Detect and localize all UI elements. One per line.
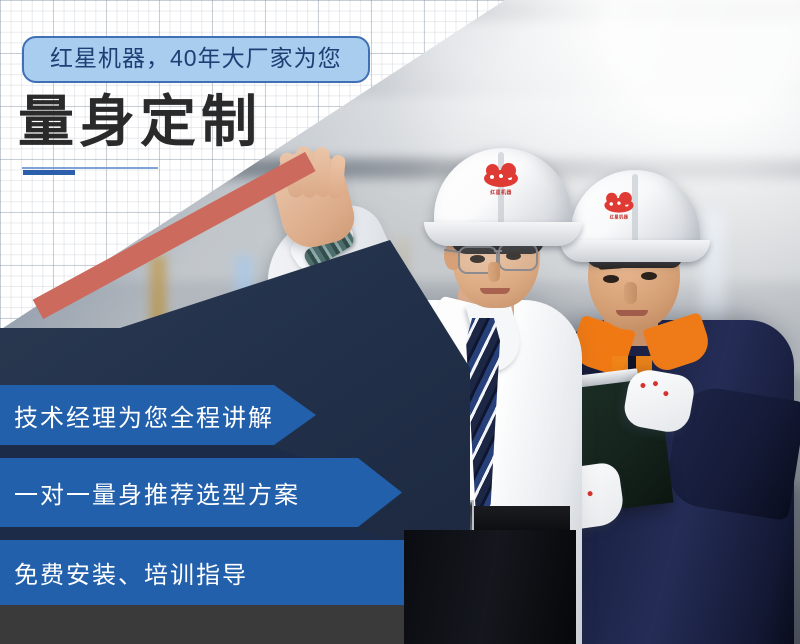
tagline-pill: 红星机器，40年大厂家为您 (22, 36, 370, 83)
title-underline-thick (23, 170, 75, 175)
bar-shadow-1 (0, 445, 306, 458)
engineer-trousers-overlay (404, 530, 576, 644)
title-underline-thin (22, 167, 158, 169)
bar-shadow-2 (0, 527, 392, 540)
page-title: 量身定制 (18, 94, 262, 150)
promo-banner: 红星机器 (0, 0, 800, 644)
feature-bar-1: 技术经理为您全程讲解 (0, 385, 316, 445)
feature-bar-2: 一对一量身推荐选型方案 (0, 458, 402, 527)
